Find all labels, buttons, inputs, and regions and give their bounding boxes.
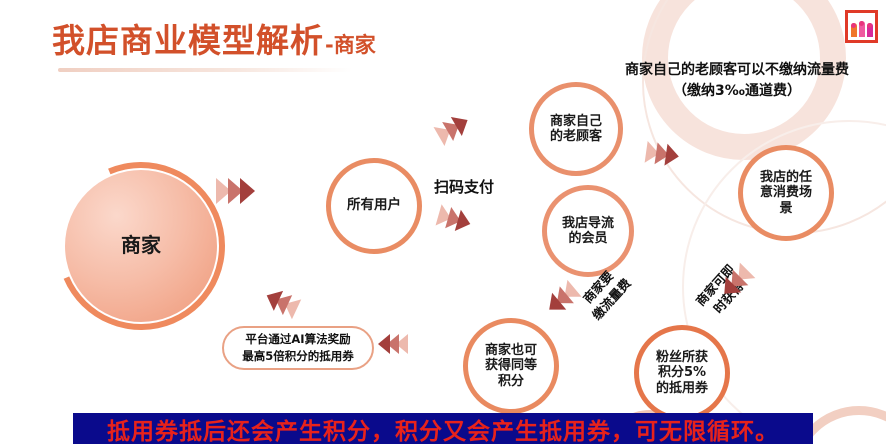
node-any-consumption-scene-label: 我店的任 意消费场 景 <box>760 170 812 216</box>
label-scan-pay: 扫码支付 <box>434 176 494 197</box>
three-people-logo-icon <box>845 10 878 43</box>
arrow-reward-to-merchant <box>265 287 301 320</box>
node-all-users-label: 所有用户 <box>347 198 401 214</box>
node-merchant-equal-points-label: 商家也可 获得同等 积分 <box>485 343 537 389</box>
chevron-right-icon <box>240 178 255 204</box>
node-fan-points-coupon[interactable]: 粉丝所获 积分5% 的抵用券 <box>634 325 730 421</box>
reward-pill[interactable]: 平台通过AI算法奖励 最高5倍积分的抵用券 <box>222 326 374 370</box>
node-old-customers-label: 商家自己 的老顾客 <box>550 114 602 145</box>
node-any-consumption-scene[interactable]: 我店的任 意消费场 景 <box>738 145 834 241</box>
node-guided-members-label: 我店导流 的会员 <box>562 216 614 247</box>
chevron-right-icon <box>664 144 680 168</box>
node-guided-members[interactable]: 我店导流 的会员 <box>542 185 634 277</box>
page-title-sub: -商家 <box>325 29 376 59</box>
reward-pill-line1: 平台通过AI算法奖励 <box>245 331 350 348</box>
bottom-banner-text: 抵用券抵后还会产生积分，积分又会产生抵用券，可无限循环。 <box>107 412 779 444</box>
page-title-main: 我店商业模型解析 <box>52 24 324 57</box>
node-merchant-label: 商家 <box>121 234 161 258</box>
arrow-allusers-to-oldcustomers <box>434 112 471 146</box>
title-underline <box>58 68 352 72</box>
arrow-to-any-scene <box>645 141 678 167</box>
chevron-left-icon <box>378 334 390 354</box>
bottom-banner: 抵用券抵后还会产生积分，积分又会产生抵用券，可无限循环。 <box>73 413 813 444</box>
slide-canvas: 我店商业模型解析-商家 商家自己的老顾客可以不缴纳流量费 （缴纳3‰通道费） 商… <box>0 0 886 444</box>
arrow-points-to-reward-pill <box>381 334 408 354</box>
arrow-merchant-to-allusers <box>216 178 252 204</box>
node-fan-points-coupon-label: 粉丝所获 积分5% 的抵用券 <box>656 350 708 396</box>
node-all-users[interactable]: 所有用户 <box>326 158 422 254</box>
arrow-members-to-merchant-points <box>544 280 581 316</box>
page-title: 我店商业模型解析-商家 <box>52 24 376 59</box>
node-old-customers[interactable]: 商家自己 的老顾客 <box>529 82 623 176</box>
note-traffic-fee-exempt: 商家自己的老顾客可以不缴纳流量费 （缴纳3‰通道费） <box>592 60 882 102</box>
arrow-allusers-to-members <box>436 204 471 233</box>
node-merchant-equal-points[interactable]: 商家也可 获得同等 积分 <box>463 318 559 414</box>
node-merchant[interactable]: 商家 <box>65 170 217 322</box>
reward-pill-line2: 最高5倍积分的抵用券 <box>242 348 354 365</box>
